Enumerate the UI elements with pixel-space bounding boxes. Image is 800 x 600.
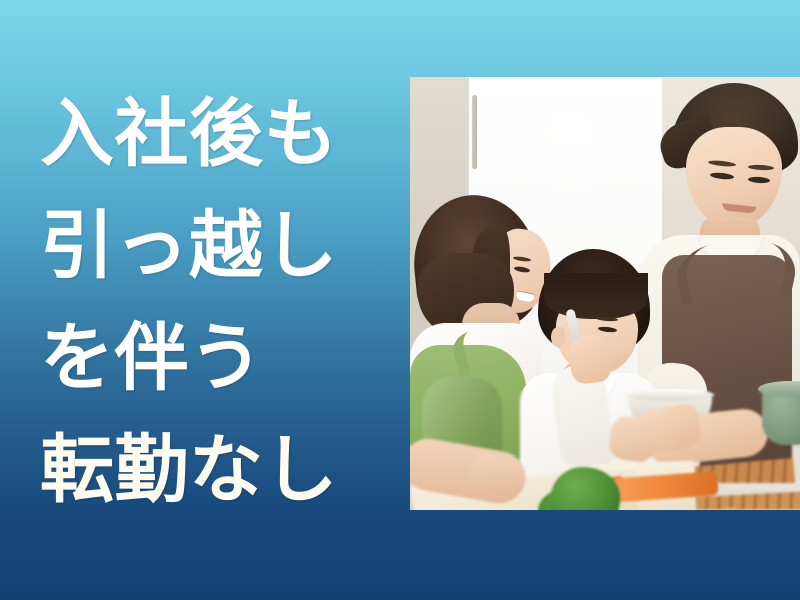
headline-line-3: を伴う [40, 302, 390, 414]
window-glare [500, 83, 640, 213]
family-cooking-photo [410, 77, 800, 510]
refrigerator-handle [472, 95, 477, 169]
boy-hand [568, 333, 613, 385]
boy-bangs [544, 273, 648, 319]
banner-canvas: 入社後も 引っ越し を伴う 転勤なし [0, 0, 800, 600]
headline-block: 入社後も 引っ越し を伴う 転勤なし [40, 78, 390, 526]
headline-line-4: 転勤なし [40, 414, 390, 526]
headline-line-2: 引っ越し [40, 190, 390, 302]
photo-scene [410, 77, 800, 510]
boy-hand-lower [607, 414, 659, 464]
headline-line-1: 入社後も [40, 78, 390, 190]
boy-ear [551, 327, 565, 347]
ceramic-bowl-rim [626, 389, 714, 401]
